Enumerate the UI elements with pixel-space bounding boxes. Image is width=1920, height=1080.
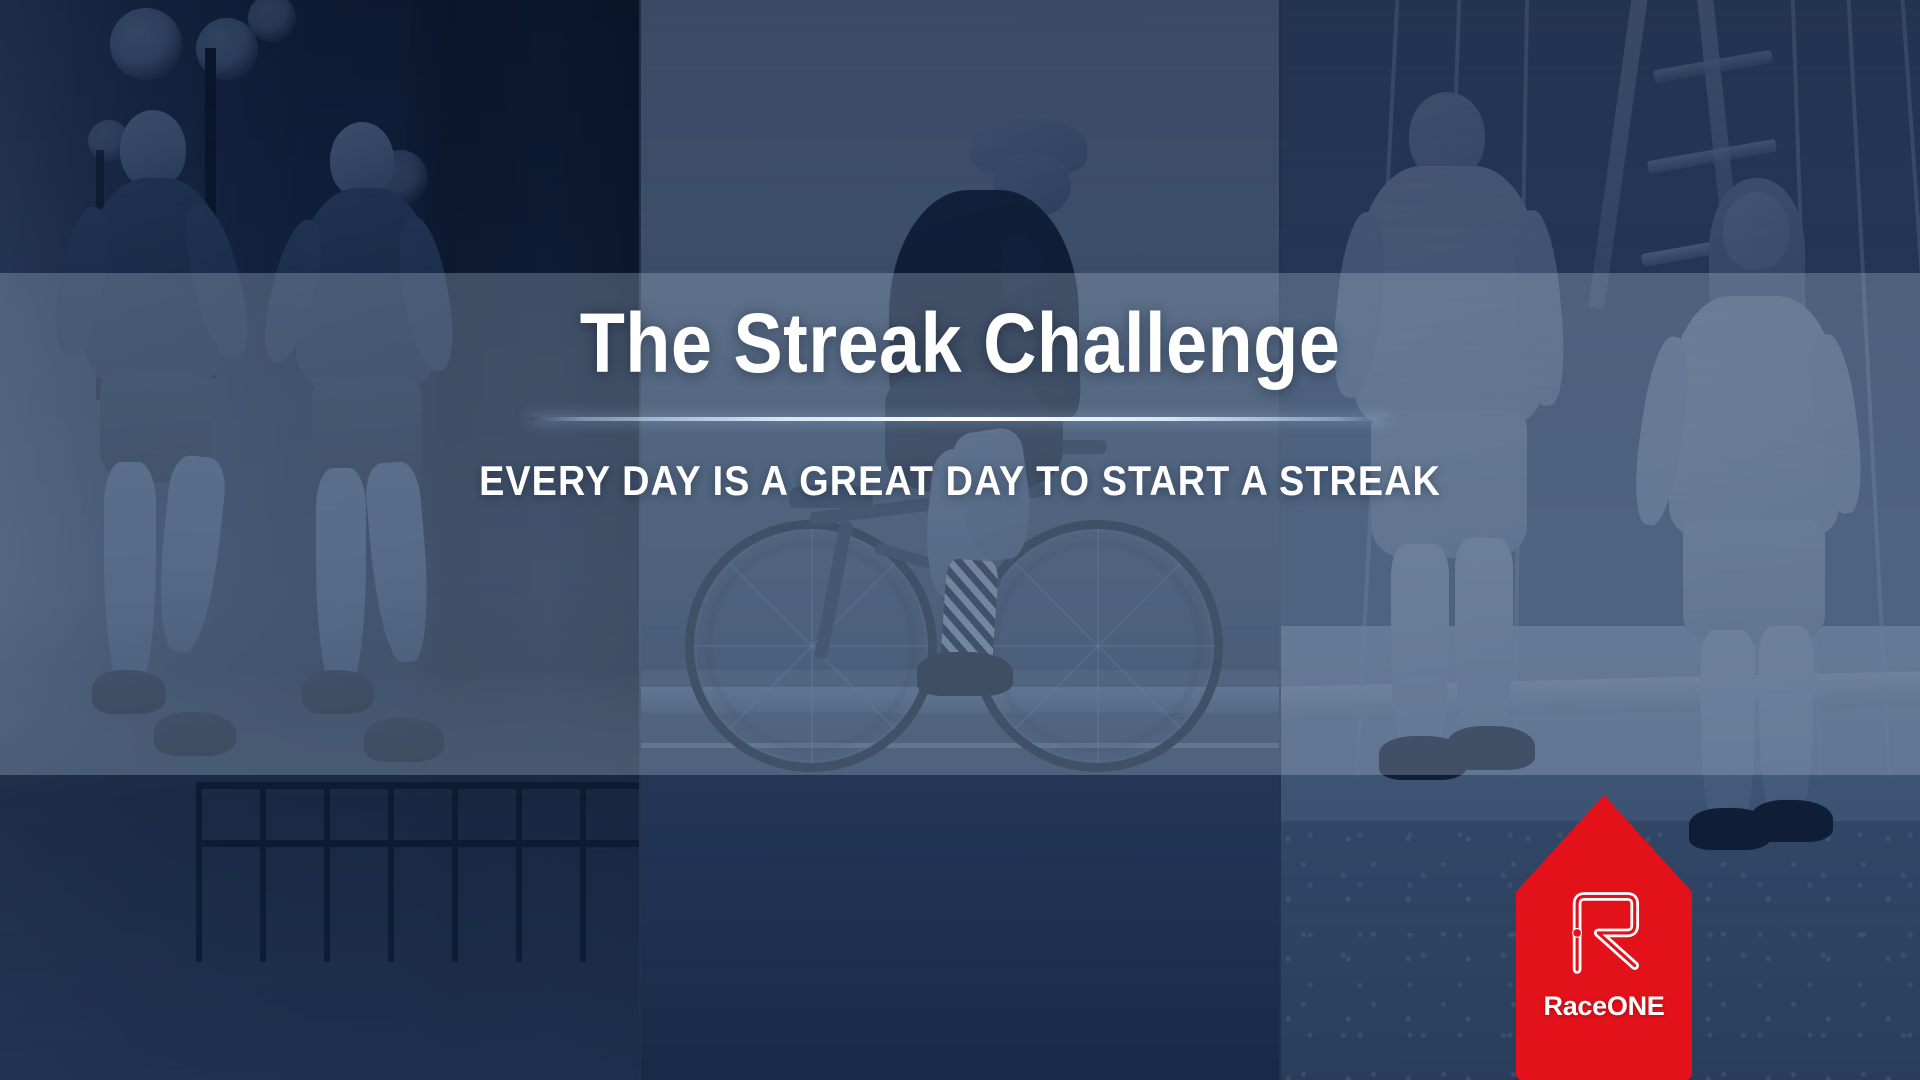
panel-runners — [0, 0, 639, 1080]
raceone-route-r-icon — [1556, 883, 1652, 979]
brand-wordmark: RaceONE — [1516, 991, 1692, 1022]
cyclist-photo — [641, 0, 1280, 1080]
panel-cyclist — [639, 0, 1280, 1080]
hero-banner: The Streak Challenge Every day is a grea… — [0, 0, 1920, 1080]
raceone-logo[interactable]: RaceONE — [1516, 795, 1692, 1080]
runners-photo — [0, 0, 639, 1080]
